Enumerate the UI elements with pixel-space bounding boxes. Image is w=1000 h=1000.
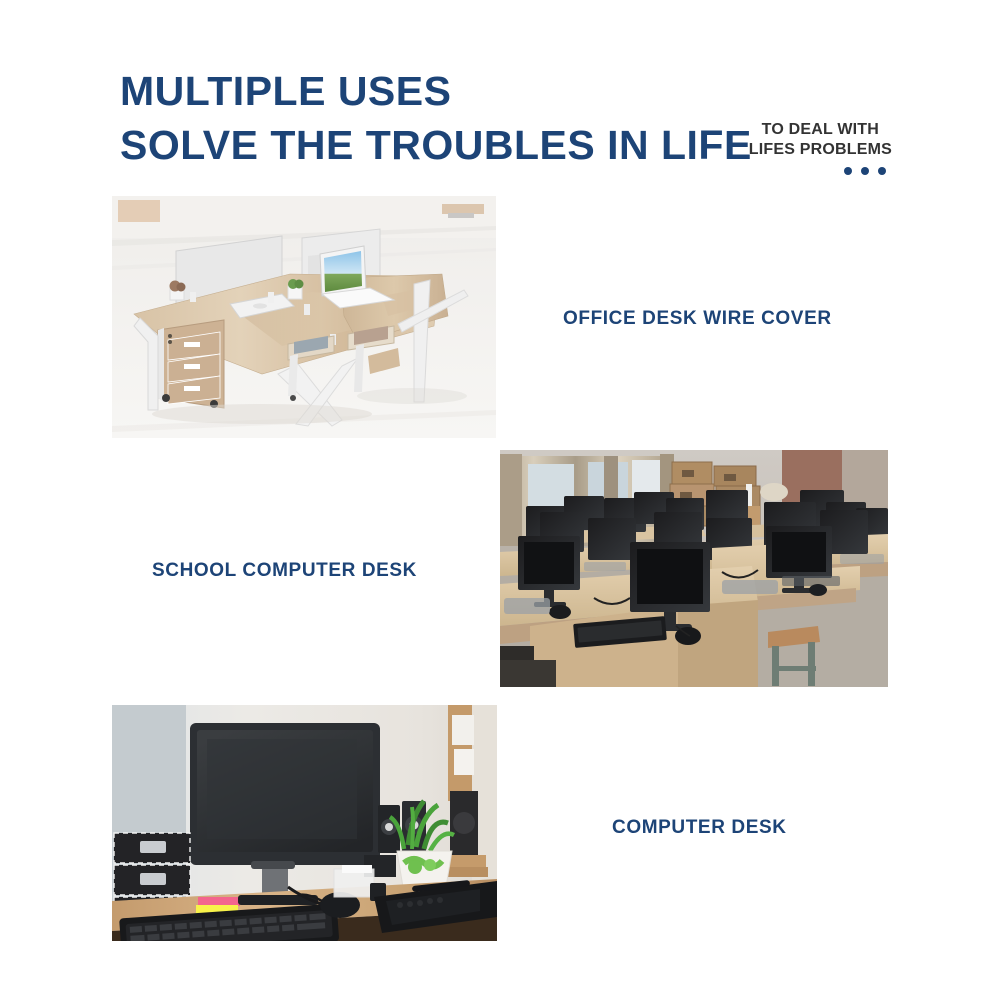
- school-computer-lab-photo: [500, 450, 888, 687]
- caption-computer-desk: COMPUTER DESK: [612, 817, 787, 839]
- title-line-1: MULTIPLE USES: [120, 68, 752, 114]
- dot-icon: [878, 167, 886, 175]
- subtitle-line-1: TO DEAL WITH: [749, 120, 892, 140]
- dot-icon: [861, 167, 869, 175]
- caption-school-computer-desk: SCHOOL COMPUTER DESK: [152, 560, 417, 582]
- page-title: MULTIPLE USES SOLVE THE TROUBLES IN LIFE: [120, 68, 752, 168]
- title-line-2: SOLVE THE TROUBLES IN LIFE: [120, 122, 752, 168]
- header: MULTIPLE USES SOLVE THE TROUBLES IN LIFE…: [120, 68, 910, 188]
- dot-icon: [844, 167, 852, 175]
- home-computer-desk-photo: [112, 705, 497, 941]
- office-desk-workstation-photo: [112, 196, 496, 438]
- poster-page: MULTIPLE USES SOLVE THE TROUBLES IN LIFE…: [0, 0, 1000, 1000]
- subtitle-line-2: LIFES PROBLEMS: [749, 140, 892, 160]
- subtitle: TO DEAL WITH LIFES PROBLEMS: [749, 120, 892, 175]
- decorative-dots: [749, 167, 892, 175]
- caption-office-desk-wire-cover: OFFICE DESK WIRE COVER: [563, 308, 832, 330]
